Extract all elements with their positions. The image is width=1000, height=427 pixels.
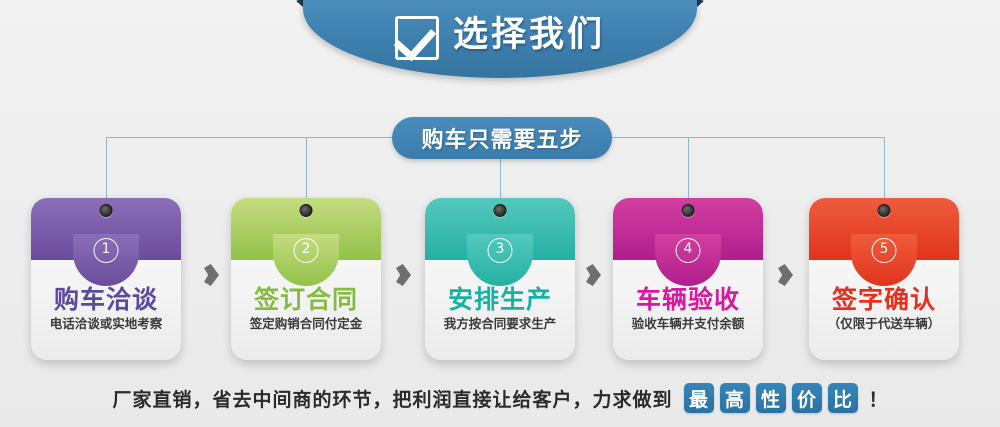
grommet-hole-icon <box>494 204 507 217</box>
connector-drop-4 <box>688 137 689 201</box>
footer-text-before: 厂家直销，省去中间商的环节，把利润直接让给客户，力求做到 <box>112 385 672 412</box>
footer-text-after: ！ <box>869 385 888 412</box>
banner-title: 选择我们 <box>453 13 605 57</box>
step-subtitle-2: 签定购销合同付定金 <box>231 313 381 332</box>
arrow-right-icon <box>396 264 411 286</box>
step-number-1: 1 <box>94 238 119 263</box>
connector-drop-1 <box>106 137 107 201</box>
footer-tagline: 厂家直销，省去中间商的环节，把利润直接让给客户，力求做到 最 高 性 价 比 ！ <box>0 378 1000 418</box>
grommet-hole-icon <box>300 204 313 217</box>
connector-drop-5 <box>884 137 885 201</box>
step-title-4: 车辆验收 <box>613 280 763 316</box>
step-subtitle-5: （仅限于代送车辆） <box>809 313 959 332</box>
subheader-label: 购车只需要五步 <box>421 122 582 154</box>
step-number-3: 3 <box>488 238 513 263</box>
footer-badge-1: 最 <box>684 383 714 413</box>
connector-line-right <box>604 137 884 138</box>
step-number-2: 2 <box>294 238 319 263</box>
infographic-stage: 选择我们 购车只需要五步 1 购车洽谈 电话洽谈或实地考察 2 签订合同 签定购… <box>0 0 1000 427</box>
grommet-hole-icon <box>878 204 891 217</box>
step-number-5: 5 <box>872 238 897 263</box>
step-title-1: 购车洽谈 <box>31 280 181 316</box>
step-title-2: 签订合同 <box>231 280 381 316</box>
footer-badges: 最 高 性 价 比 <box>684 383 858 413</box>
connector-drop-2 <box>306 137 307 201</box>
footer-badge-2: 高 <box>720 383 750 413</box>
footer-badge-4: 价 <box>792 383 822 413</box>
arrow-right-icon <box>204 264 219 286</box>
footer-badge-3: 性 <box>756 383 786 413</box>
footer-badge-5: 比 <box>828 383 858 413</box>
step-subtitle-4: 验收车辆并支付余额 <box>613 313 763 332</box>
step-card-1[interactable]: 1 购车洽谈 电话洽谈或实地考察 <box>31 198 181 360</box>
arrow-right-icon <box>586 264 601 286</box>
step-card-5[interactable]: 5 签字确认 （仅限于代送车辆） <box>809 198 959 360</box>
checkbox-checked-icon <box>395 16 439 60</box>
step-card-2[interactable]: 2 签订合同 签定购销合同付定金 <box>231 198 381 360</box>
step-card-3[interactable]: 3 安排生产 我方按合同要求生产 <box>425 198 575 360</box>
subheader-pill: 购车只需要五步 <box>392 117 612 159</box>
grommet-hole-icon <box>100 204 113 217</box>
step-number-4: 4 <box>676 238 701 263</box>
header-banner: 选择我们 <box>295 0 705 80</box>
step-title-5: 签字确认 <box>809 280 959 316</box>
step-subtitle-1: 电话洽谈或实地考察 <box>31 313 181 332</box>
step-subtitle-3: 我方按合同要求生产 <box>425 313 575 332</box>
grommet-hole-icon <box>682 204 695 217</box>
arrow-right-icon <box>778 264 793 286</box>
step-title-3: 安排生产 <box>425 280 575 316</box>
step-card-4[interactable]: 4 车辆验收 验收车辆并支付余额 <box>613 198 763 360</box>
